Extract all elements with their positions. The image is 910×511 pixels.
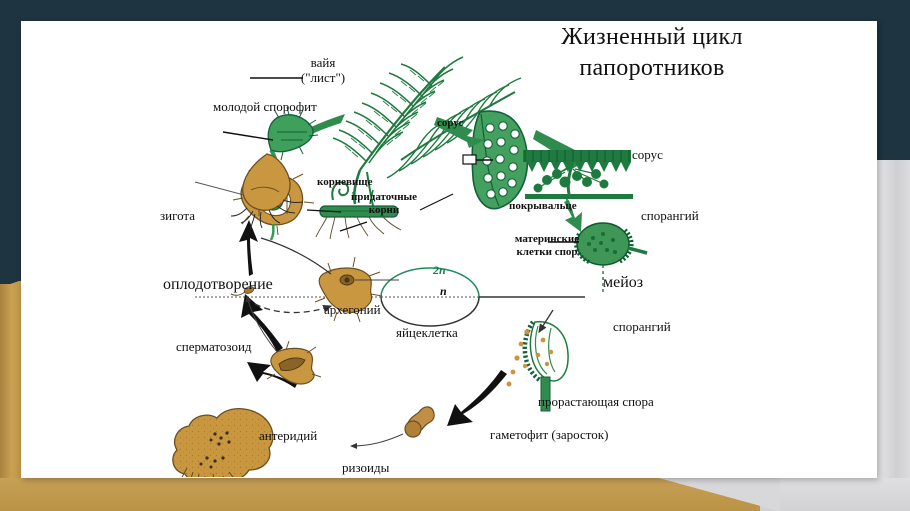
label-young-sporophyte: молодой спорофит	[213, 100, 317, 115]
frame-corner-bottom-wedge	[660, 478, 780, 511]
germinating-spore-illustration	[405, 407, 434, 437]
gametophyte-illustration	[173, 409, 273, 477]
label-vaya-line2: ("лист")	[288, 71, 358, 86]
label-antheridium: антеридий	[259, 429, 317, 444]
label-germinating-spore: прорастающая спора	[538, 395, 654, 410]
frame-border-right	[877, 0, 910, 160]
label-sporangium-bottom: спорангий	[613, 320, 671, 335]
frame-border-bottom-gold	[0, 478, 760, 511]
label-adventitious-roots-line2: корни	[345, 204, 423, 217]
label-egg-cell: яйцеклетка	[396, 326, 458, 341]
label-vaya: вайя ("лист")	[288, 56, 358, 86]
label-spore-mother-cells: материнские клетки спор	[505, 233, 589, 258]
label-sporangium-top: спорангий	[641, 209, 699, 224]
fern-life-cycle-diagram	[155, 22, 745, 477]
label-meiosis: мейоз	[603, 274, 643, 292]
label-spore-mother-cells-line2: клетки спор	[505, 246, 589, 259]
label-vaya-line1: вайя	[288, 56, 358, 71]
label-sorus-on-leaf: сорус	[437, 117, 463, 130]
label-indusium: покрывальце	[509, 200, 577, 213]
label-sorus-section: сорус	[632, 148, 663, 163]
frame-border-top	[0, 0, 910, 21]
arrow-to-fertilization	[239, 220, 258, 276]
label-archegonium: архегоний	[324, 303, 381, 318]
label-rhizoids: ризоиды	[342, 461, 389, 476]
label-spermatozoid: сперматозоид	[176, 340, 252, 355]
label-fertilization: оплодотворение	[163, 276, 273, 294]
label-zygote: зигота	[160, 209, 195, 224]
spermatozoid-path	[255, 304, 331, 313]
label-gametophyte: гаметофит (заросток)	[490, 428, 608, 443]
label-ploidy-haploid: n	[440, 285, 447, 299]
presentation-slide: Жизненный цикл папоротников	[0, 0, 910, 511]
label-ploidy-diploid: 2n	[433, 264, 446, 278]
arrow-spore-release	[447, 370, 507, 426]
frame-border-left	[0, 0, 21, 286]
label-adventitious-roots-line1: придаточные	[345, 191, 423, 204]
label-spore-mother-cells-line1: материнские	[505, 233, 589, 246]
frame-border-right-grey	[877, 160, 910, 511]
label-adventitious-roots: придаточные корни	[345, 191, 423, 216]
sorus-cross-section-illustration	[523, 150, 633, 204]
frame-border-left-gold	[0, 284, 21, 511]
label-rhizome: корневище	[317, 176, 372, 189]
